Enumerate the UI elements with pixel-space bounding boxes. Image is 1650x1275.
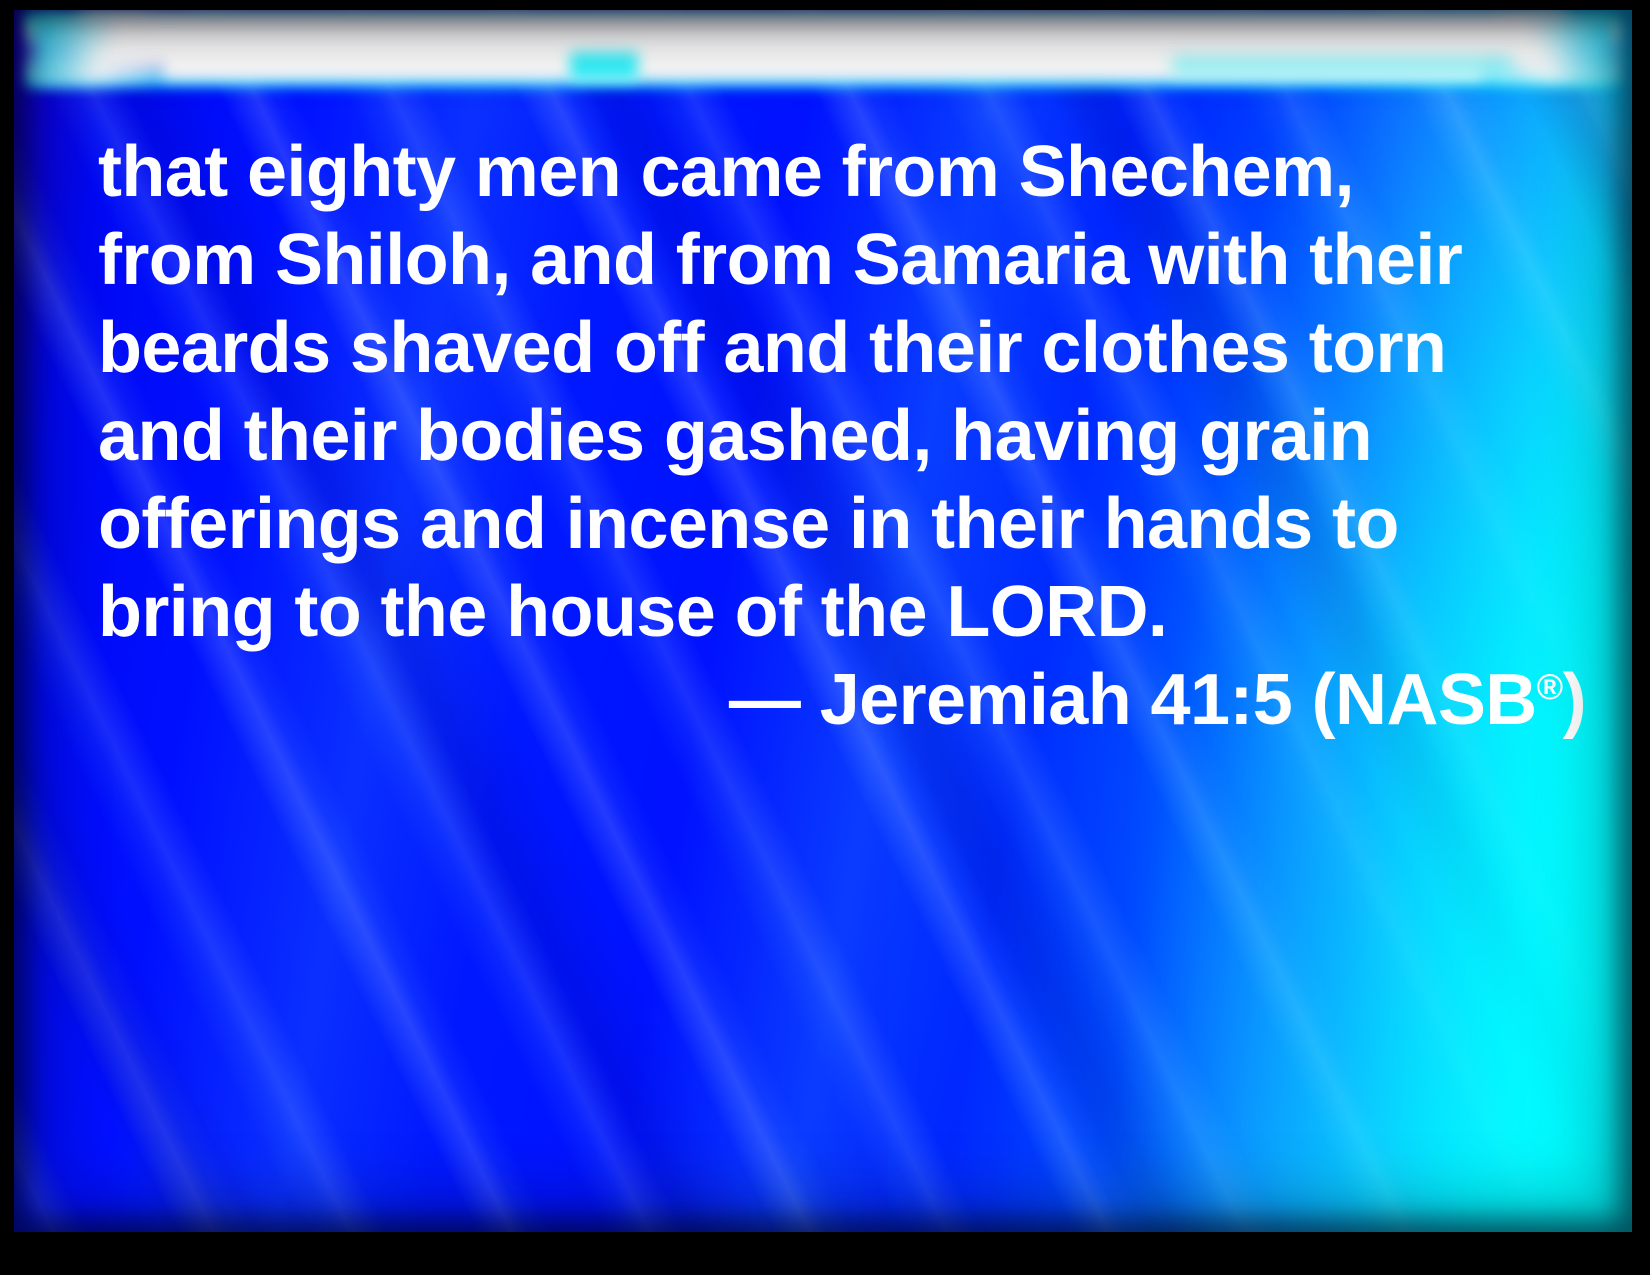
reference-open-paren: (: [1312, 660, 1335, 740]
reference-chapter-verse: 41:5: [1151, 660, 1293, 740]
verse-line-1: that eighty men came from Shechem,: [98, 128, 1588, 216]
reference-dash: —: [729, 660, 800, 740]
reference-close-paren: ): [1563, 660, 1586, 740]
registered-trademark-icon: ®: [1537, 666, 1563, 707]
verse-text-block: that eighty men came from Shechem, from …: [98, 128, 1588, 744]
verse-line-2: from Shiloh, and from Samaria with their: [98, 216, 1588, 304]
slide-panel: that eighty men came from Shechem, from …: [14, 10, 1632, 1232]
reference-translation: NASB: [1335, 660, 1537, 740]
reference-book: Jeremiah: [820, 660, 1131, 740]
verse-line-4: and their bodies gashed, having grain: [98, 392, 1588, 480]
verse-line-3: beards shaved off and their clothes torn: [98, 304, 1588, 392]
verse-line-5: offerings and incense in their hands to: [98, 480, 1588, 568]
scripture-slide: that eighty men came from Shechem, from …: [0, 0, 1650, 1275]
verse-reference: — Jeremiah 41:5 (NASB®): [98, 656, 1588, 744]
verse-line-6: bring to the house of the LORD.: [98, 568, 1588, 656]
